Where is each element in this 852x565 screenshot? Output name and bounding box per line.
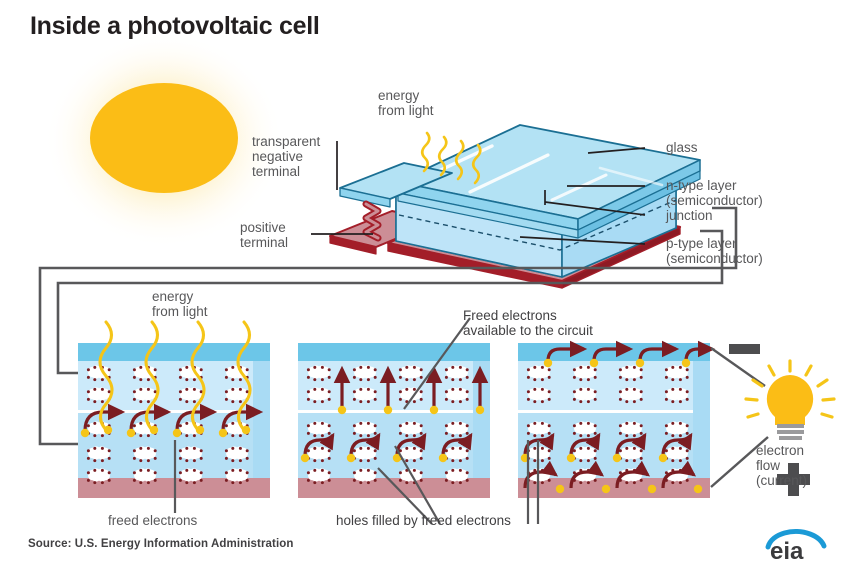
label-electron-flow: electronflow(current)	[756, 443, 807, 488]
label-transparent-negative-terminal: transparentnegativeterminal	[252, 134, 320, 179]
label-n-type-layer: n-type layer(semiconductor)	[666, 178, 763, 208]
label-positive-terminal: positiveterminal	[240, 220, 288, 250]
infographic-root: Inside a photovoltaic cell Source: U.S. …	[0, 0, 852, 565]
bulb-base	[777, 424, 804, 440]
eia-logo-text: eia	[770, 538, 804, 562]
light-bulb	[746, 361, 834, 440]
eia-logo[interactable]: eia	[762, 528, 828, 562]
label-energy-from-light-top: energyfrom light	[378, 88, 434, 118]
panel-1	[78, 322, 270, 513]
label-energy-from-light-panel1: energyfrom light	[152, 289, 208, 319]
label-junction: junction	[666, 208, 713, 223]
label-glass: glass	[666, 140, 698, 155]
label-freed-electrons: freed electrons	[108, 513, 197, 528]
panel-3	[518, 343, 712, 524]
photovoltaic-cell-3d	[311, 125, 700, 288]
label-holes-filled: holes filled by freed electrons	[336, 513, 511, 528]
panel-2	[298, 318, 490, 524]
label-freed-electrons-available: Freed electronsavailable to the circuit	[463, 308, 593, 338]
minus-sign-shape	[729, 344, 760, 354]
sun-graphic	[44, 32, 284, 248]
label-p-type-layer: p-type layer(semiconductor)	[666, 236, 763, 266]
diagram-canvas	[0, 0, 852, 565]
